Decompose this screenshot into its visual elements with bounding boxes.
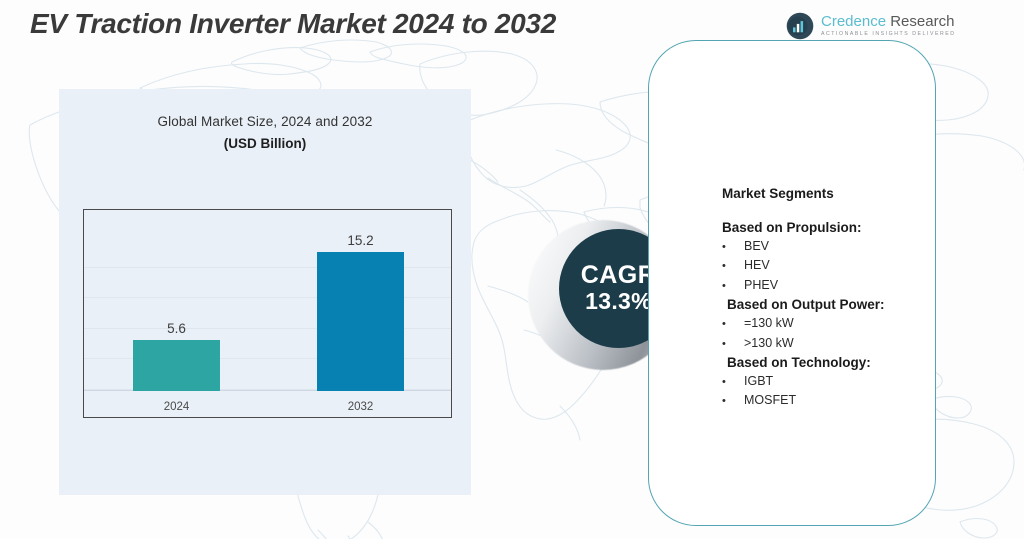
logo-tagline: Actionable Insights Delivered: [821, 32, 956, 37]
segment-list-item[interactable]: •IGBT: [722, 372, 937, 391]
chart-subtitle-primary: Global Market Size, 2024 and 2032: [59, 114, 471, 129]
chart-bar-value-label: 5.6: [133, 321, 220, 336]
brand-logo: Credence Research Actionable Insights De…: [786, 12, 956, 40]
bullet-icon: •: [722, 258, 744, 275]
circular-bar-chart-logo-icon: [786, 12, 814, 40]
bar-chart-plot-area: 5.6202415.22032: [83, 209, 452, 418]
segment-group: Based on Technology:•IGBT•MOSFET: [722, 355, 937, 411]
segment-group-heading: Based on Output Power:: [722, 297, 937, 312]
segment-item-label: HEV: [744, 256, 770, 275]
cagr-label: CAGR: [581, 262, 657, 288]
infographic-canvas: EV Traction Inverter Market 2024 to 2032…: [0, 0, 1024, 539]
cagr-value: 13.3%: [585, 288, 652, 314]
segment-list-item[interactable]: •>130 kW: [722, 334, 937, 353]
logo-name-credence: Credence: [821, 13, 886, 30]
market-segments-groups: Based on Propulsion:•BEV•HEV•PHEVBased o…: [722, 220, 937, 411]
segment-list-item[interactable]: •MOSFET: [722, 391, 937, 410]
chart-bar[interactable]: [317, 252, 404, 391]
chart-category-label: 2024: [133, 401, 220, 413]
logo-name-research: Research: [890, 13, 954, 30]
segment-item-label: =130 kW: [744, 314, 794, 333]
bullet-icon: •: [722, 239, 744, 256]
segment-group-heading: Based on Propulsion:: [722, 220, 937, 235]
segment-group: Based on Propulsion:•BEV•HEV•PHEV: [722, 220, 937, 295]
segment-group: Based on Output Power:•=130 kW•>130 kW: [722, 297, 937, 353]
segment-item-label: PHEV: [744, 276, 778, 295]
segment-group-heading: Based on Technology:: [722, 355, 937, 370]
chart-category-label: 2032: [317, 401, 404, 413]
chart-bar[interactable]: [133, 340, 220, 391]
chart-bar-value-label: 15.2: [317, 233, 404, 248]
chart-subtitle-units: (USD Billion): [59, 136, 471, 151]
bullet-icon: •: [722, 336, 744, 353]
segment-list-item[interactable]: •HEV: [722, 256, 937, 275]
segment-item-label: IGBT: [744, 372, 773, 391]
segment-list-item[interactable]: •PHEV: [722, 276, 937, 295]
segment-list-item[interactable]: •=130 kW: [722, 314, 937, 333]
page-title: EV Traction Inverter Market 2024 to 2032: [30, 8, 556, 40]
bullet-icon: •: [722, 278, 744, 295]
market-segments-title: Market Segments: [722, 186, 937, 201]
bullet-icon: •: [722, 393, 744, 410]
segment-item-label: >130 kW: [744, 334, 794, 353]
bullet-icon: •: [722, 316, 744, 333]
market-segments-content: Market Segments Based on Propulsion:•BEV…: [722, 186, 937, 413]
bullet-icon: •: [722, 374, 744, 391]
logo-text: Credence Research Actionable Insights De…: [821, 14, 956, 37]
segment-list-item[interactable]: •BEV: [722, 237, 937, 256]
logo-name: Credence Research: [821, 14, 956, 29]
segment-item-label: BEV: [744, 237, 769, 256]
segment-item-label: MOSFET: [744, 391, 796, 410]
